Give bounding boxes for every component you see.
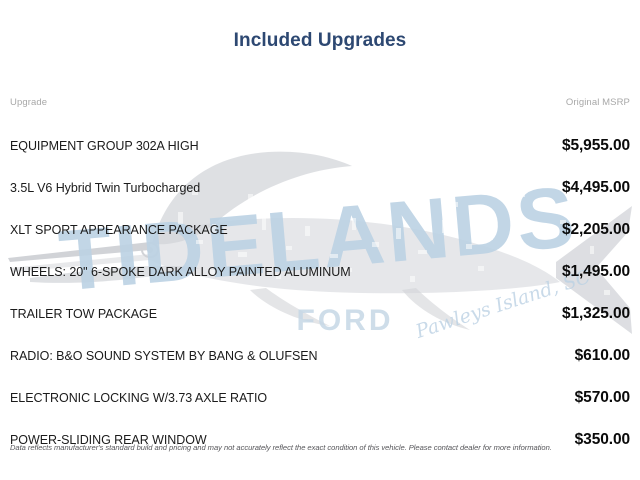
table-row: WHEELS: 20" 6-SPOKE DARK ALLOY PAINTED A… xyxy=(10,251,630,293)
upgrades-list: EQUIPMENT GROUP 302A HIGH $5,955.00 3.5L… xyxy=(10,125,630,461)
upgrade-price: $2,205.00 xyxy=(562,221,630,239)
upgrade-name: TRAILER TOW PACKAGE xyxy=(10,307,157,321)
upgrades-page: TIDELANDS FORD Pawleys Island, SC xyxy=(0,0,640,480)
table-row: 3.5L V6 Hybrid Twin Turbocharged $4,495.… xyxy=(10,167,630,209)
upgrade-name: 3.5L V6 Hybrid Twin Turbocharged xyxy=(10,181,200,195)
upgrade-price: $610.00 xyxy=(575,347,630,365)
table-row: XLT SPORT APPEARANCE PACKAGE $2,205.00 xyxy=(10,209,630,251)
upgrade-name: RADIO: B&O SOUND SYSTEM BY BANG & OLUFSE… xyxy=(10,349,318,363)
table-row: TRAILER TOW PACKAGE $1,325.00 xyxy=(10,293,630,335)
page-title: Included Upgrades xyxy=(0,30,640,52)
upgrade-name: EQUIPMENT GROUP 302A HIGH xyxy=(10,139,199,153)
table-row: ELECTRONIC LOCKING W/3.73 AXLE RATIO $57… xyxy=(10,377,630,419)
upgrade-name: ELECTRONIC LOCKING W/3.73 AXLE RATIO xyxy=(10,391,267,405)
upgrade-price: $1,325.00 xyxy=(562,305,630,323)
content-layer: Included Upgrades Upgrade Original MSRP … xyxy=(0,0,640,480)
upgrade-price: $570.00 xyxy=(575,389,630,407)
upgrade-name: WHEELS: 20" 6-SPOKE DARK ALLOY PAINTED A… xyxy=(10,265,351,279)
table-row: POWER-SLIDING REAR WINDOW $350.00 xyxy=(10,419,630,461)
upgrade-name: XLT SPORT APPEARANCE PACKAGE xyxy=(10,223,228,237)
column-header-upgrade: Upgrade xyxy=(10,97,47,108)
table-row: RADIO: B&O SOUND SYSTEM BY BANG & OLUFSE… xyxy=(10,335,630,377)
disclaimer-text: Data reflects manufacturer's standard bu… xyxy=(10,443,632,452)
upgrade-price: $5,955.00 xyxy=(562,137,630,155)
table-header-row: Upgrade Original MSRP xyxy=(10,97,630,108)
upgrade-price: $1,495.00 xyxy=(562,263,630,281)
upgrade-price: $4,495.00 xyxy=(562,179,630,197)
table-row: EQUIPMENT GROUP 302A HIGH $5,955.00 xyxy=(10,125,630,167)
column-header-msrp: Original MSRP xyxy=(566,97,630,108)
